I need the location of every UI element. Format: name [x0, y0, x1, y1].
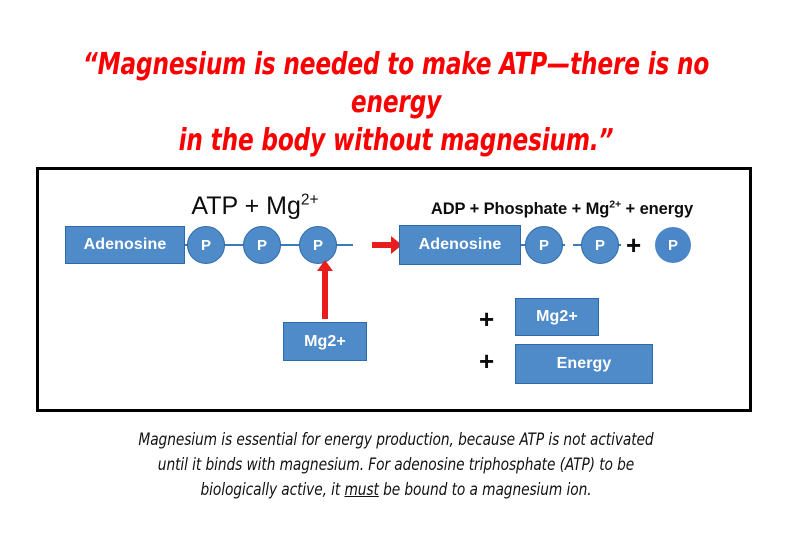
plus-sign-energy-product: + [479, 348, 494, 374]
adenosine-box-right-label: Adenosine [419, 236, 502, 254]
caption-line-3-before: biologically active, it [200, 480, 344, 500]
caption-text: Magnesium is essential for energy produc… [90, 428, 702, 503]
adp-product-label-part1: ADP + Phosphate + Mg [431, 200, 609, 218]
caption-line-1: Magnesium is essential for energy produc… [90, 428, 702, 453]
plus-sign-mg-product: + [479, 306, 494, 332]
phosphate-circle-left-2: P [243, 226, 281, 264]
mg-cofactor-box: Mg2+ [283, 322, 367, 361]
mg-cofactor-box-label: Mg2+ [304, 333, 346, 351]
mg-product-box: Mg2+ [515, 298, 599, 336]
phosphate-circle-left-3: P [299, 226, 337, 264]
adp-product-charge: 2+ [609, 199, 621, 211]
phosphate-circle-right-1: P [525, 226, 563, 264]
mg-binding-arrow-shaft [322, 271, 328, 319]
caption-line-3-after: be bound to a magnesium ion. [379, 480, 592, 500]
phosphate-circle-right-2: P [581, 226, 619, 264]
atp-reactant-label: ATP + Mg2+ [135, 192, 375, 221]
mg-product-box-label: Mg2+ [536, 308, 578, 326]
adp-product-label-part2: + energy [621, 200, 693, 218]
phosphate-circle-left-2-label: P [257, 237, 267, 254]
free-phosphate-circle-label: P [668, 237, 678, 254]
adp-product-label: ADP + Phosphate + Mg2+ + energy [386, 200, 738, 219]
adenosine-box-right: Adenosine [399, 225, 521, 265]
energy-product-box: Energy [515, 344, 653, 384]
caption-line-2: until it binds with magnesium. For adeno… [90, 453, 702, 478]
free-phosphate-circle: P [655, 227, 691, 263]
mg-binding-arrow-head-icon [317, 260, 333, 271]
atp-reactant-charge: 2+ [301, 192, 319, 209]
phosphate-circle-right-2-label: P [595, 237, 605, 254]
adenosine-box-left: Adenosine [65, 226, 185, 264]
phosphate-circle-left-3-label: P [313, 237, 323, 254]
reaction-arrow-shaft [372, 242, 392, 248]
adenosine-box-left-label: Adenosine [84, 236, 167, 254]
phosphate-circle-left-1-label: P [201, 237, 211, 254]
atp-reactant-label-text: ATP + Mg [191, 192, 301, 220]
phosphate-circle-left-1: P [187, 226, 225, 264]
caption-emphasis-must: must [344, 480, 378, 500]
reaction-diagram: ATP + Mg2+ Adenosine P P P Mg2+ ADP + Ph… [36, 167, 752, 412]
caption-line-3: biologically active, it must be bound to… [90, 478, 702, 503]
headline-quote: “Magnesium is needed to make ATP—there i… [55, 46, 736, 160]
energy-product-box-label: Energy [557, 355, 612, 373]
plus-sign-free-phosphate: + [626, 232, 641, 258]
phosphate-circle-right-1-label: P [539, 237, 549, 254]
